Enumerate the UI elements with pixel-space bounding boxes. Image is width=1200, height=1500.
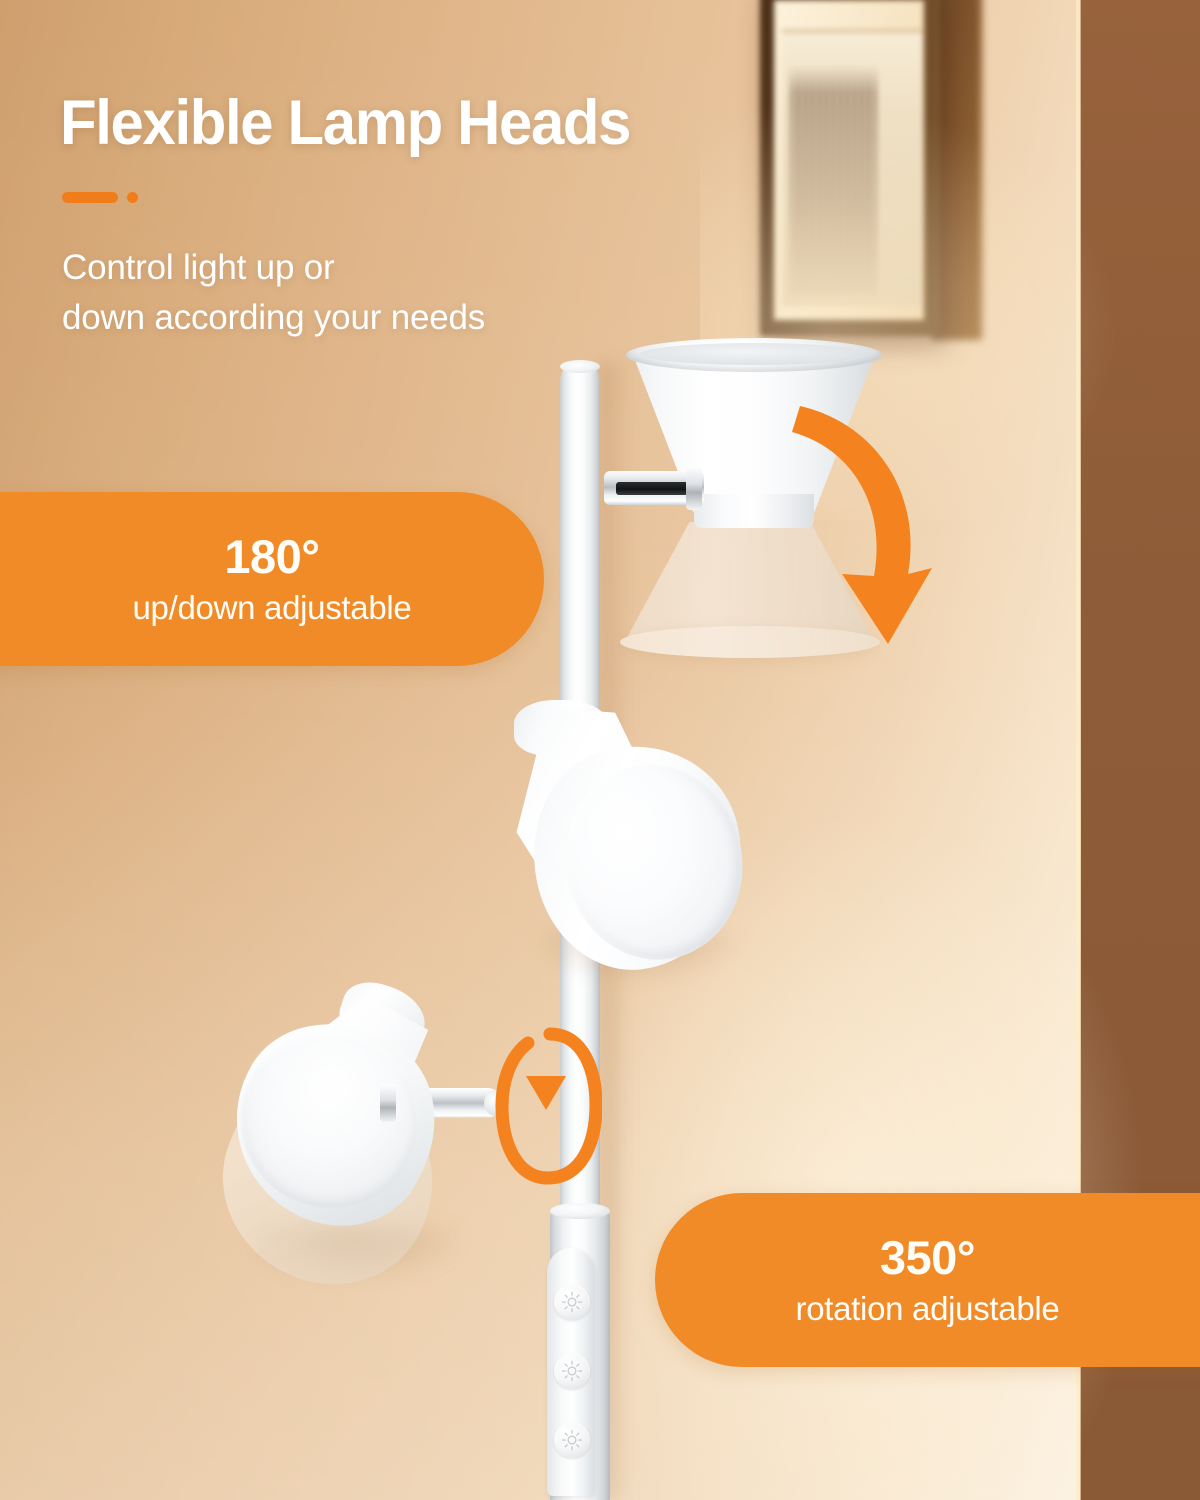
brightness-sun-icon (561, 1360, 583, 1382)
lamp-control-panel[interactable] (547, 1248, 595, 1496)
divider-bar (62, 192, 118, 203)
top-head-arm-slot (616, 482, 692, 495)
pole-top-cap (560, 360, 600, 373)
brightness-sun-icon (561, 1429, 583, 1451)
badge-up-down-value: 180° (224, 532, 319, 581)
badge-up-down-label: up/down adjustable (133, 590, 412, 626)
bottom-head-arm-collar (380, 1084, 396, 1122)
brightness-button-1[interactable] (554, 1284, 590, 1320)
divider-dot (127, 192, 138, 203)
badge-up-down-adjustable: 180° up/down adjustable (0, 492, 544, 666)
middle-lamp-head[interactable] (500, 694, 752, 984)
brightness-sun-icon (561, 1291, 583, 1313)
framed-wall-art (760, 0, 940, 336)
page-subtitle: Control light up or down according your … (62, 243, 485, 342)
subtitle-line-2: down according your needs (62, 293, 485, 343)
tilt-down-arrow-icon (782, 398, 932, 648)
badge-rotation-adjustable: 350° rotation adjustable (655, 1193, 1200, 1367)
subtitle-line-1: Control light up or (62, 243, 485, 293)
top-head-arm-collar (686, 466, 702, 510)
brightness-button-2[interactable] (554, 1353, 590, 1389)
picture-artwork (782, 30, 922, 306)
accent-divider (62, 192, 138, 203)
rotation-arrow-icon (492, 1020, 602, 1190)
badge-rotation-value: 350° (880, 1233, 975, 1282)
page-title: Flexible Lamp Heads (60, 92, 630, 155)
badge-rotation-label: rotation adjustable (796, 1291, 1060, 1327)
top-head-rim-inner (640, 343, 868, 365)
brightness-button-3[interactable] (554, 1422, 590, 1458)
artwork-trees-motif (790, 65, 877, 295)
top-lamp-head[interactable] (596, 336, 936, 676)
